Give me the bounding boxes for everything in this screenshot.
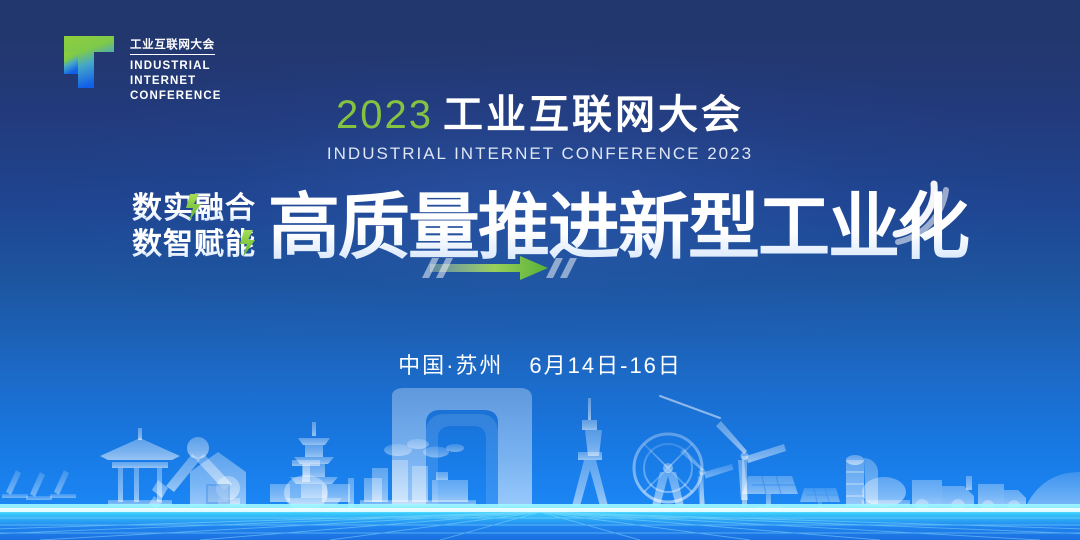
tv-tower-icon xyxy=(572,398,608,506)
logo-en-line-1: INDUSTRIAL xyxy=(130,59,222,74)
page-title: 2023工业互联网大会 xyxy=(0,92,1080,138)
slogan-main: 高质量推进新型工业化 xyxy=(268,188,969,268)
skyline-graphic xyxy=(0,360,1080,540)
oil-pump-jack-icon xyxy=(2,470,76,500)
title-block: 2023工业互联网大会 INDUSTRIAL INTERNET CONFEREN… xyxy=(0,92,1080,164)
chinese-pavilion-icon xyxy=(100,428,180,506)
title-year: 2023 xyxy=(336,93,433,137)
slogan-block: 数实融合 数智赋能 高质量推进新型工业化 xyxy=(0,176,1080,286)
bridge-icon xyxy=(1026,472,1080,506)
logo-cn-name: 工业互联网大会 xyxy=(130,38,215,55)
slogan-graphic: 数实融合 数智赋能 高质量推进新型工业化 xyxy=(0,176,1080,286)
title-subtitle: INDUSTRIAL INTERNET CONFERENCE 2023 xyxy=(0,144,1080,164)
chemical-tank-icon xyxy=(846,455,910,507)
skyline-scene xyxy=(0,360,1080,540)
conference-poster: 工业互联网大会 INDUSTRIAL INTERNET CONFERENCE 2… xyxy=(0,0,1080,540)
title-cn: 工业互联网大会 xyxy=(443,93,744,137)
slogan-left-line-2: 数智赋能 xyxy=(132,228,256,261)
ferris-wheel-icon xyxy=(634,434,702,506)
horizon-highlight xyxy=(0,508,1080,512)
logo-en-line-2: INTERNET xyxy=(130,74,222,89)
contrail-icon xyxy=(660,396,720,418)
industrial-internet-i-mark xyxy=(58,30,120,94)
